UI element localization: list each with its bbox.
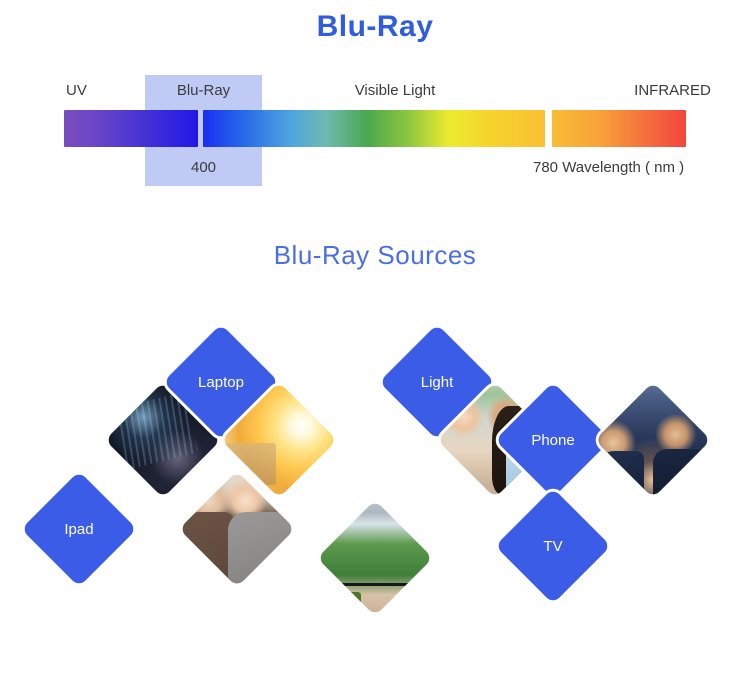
spectrum-diagram: UV Blu-Ray Visible Light INFRARED 400 78…: [0, 60, 750, 200]
tile-tv[interactable]: TV: [495, 488, 611, 604]
spectrum-segment-visible-light: [203, 110, 545, 147]
page-title: Blu-Ray: [0, 10, 750, 44]
spectrum-label-bluray: Blu-Ray: [145, 82, 262, 99]
spectrum-lower-bound-400: 400: [145, 159, 262, 176]
tile-label-ipad: Ipad: [38, 488, 120, 570]
spectrum-bar: [64, 110, 686, 147]
spectrum-segment-uv: [64, 110, 198, 147]
spectrum-label-uv: UV: [66, 82, 87, 99]
tile-label-tv: TV: [512, 505, 594, 587]
tile-ipad[interactable]: Ipad: [21, 471, 137, 587]
photo-tv-sport: [317, 500, 433, 616]
tile-label-phone: Phone: [512, 399, 594, 481]
tile-photo-two-boys: [595, 382, 711, 498]
sources-heading: Blu-Ray Sources: [0, 240, 750, 271]
bluray-sources-mosaic: Laptop Light Phone Ipad TV: [0, 300, 750, 683]
spectrum-label-infrared: INFRARED: [600, 82, 745, 99]
spectrum-segment-infrared: [552, 110, 686, 147]
spectrum-label-visible-light: Visible Light: [320, 82, 470, 99]
spectrum-wavelength-caption: 780 Wavelength ( nm ): [533, 159, 684, 176]
photo-two-boys: [595, 382, 711, 498]
tile-photo-tv-sport: [317, 500, 433, 616]
